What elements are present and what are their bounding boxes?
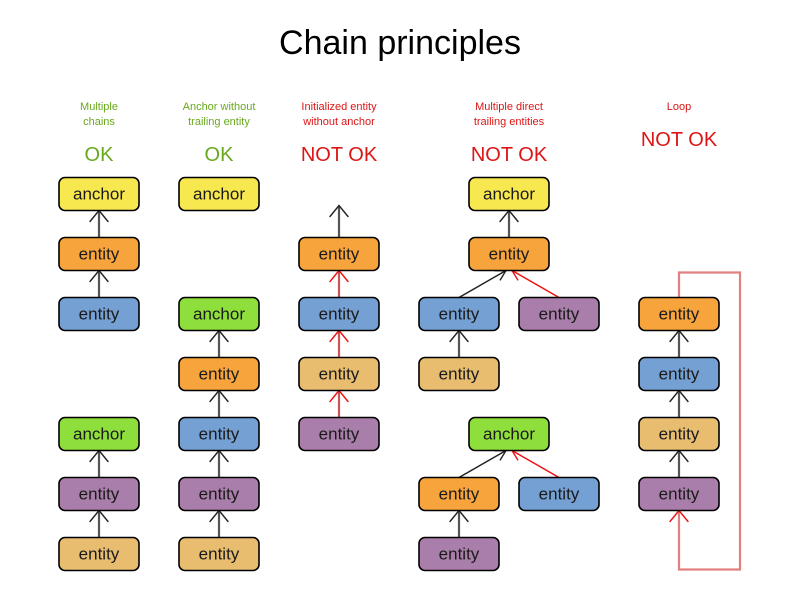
node-entity-c4n7[interactable]: entity xyxy=(419,478,499,511)
node-entity-c3n3[interactable]: entity xyxy=(299,358,379,391)
node-label: entity xyxy=(319,364,360,383)
node-label: entity xyxy=(319,244,360,263)
node-layer: anchorentityentityanchorentityentityanch… xyxy=(59,178,719,571)
node-anchor-c1n4[interactable]: anchor xyxy=(59,418,139,451)
node-entity-c1n2[interactable]: entity xyxy=(59,238,139,271)
node-entity-c2n4[interactable]: entity xyxy=(179,418,259,451)
edge-c2n5-to-c2n4 xyxy=(210,451,228,478)
edge-c1n6-to-c1n5 xyxy=(90,511,108,538)
edge-c3n2-to-c3n1 xyxy=(330,271,348,298)
node-label: anchor xyxy=(483,424,535,443)
node-label: entity xyxy=(79,544,120,563)
edge-c1n5-to-c1n4 xyxy=(90,451,108,478)
node-entity-c5n2[interactable]: entity xyxy=(639,358,719,391)
node-anchor-c2n1[interactable]: anchor xyxy=(179,178,259,211)
node-label: anchor xyxy=(483,184,535,203)
node-label: entity xyxy=(199,544,240,563)
node-label: anchor xyxy=(193,184,245,203)
node-label: anchor xyxy=(193,304,245,323)
node-entity-c3n4[interactable]: entity xyxy=(299,418,379,451)
node-label: entity xyxy=(659,364,700,383)
edge-c4n9-to-c4n7 xyxy=(450,511,468,538)
edge-c5n4-to-c5n3 xyxy=(670,451,688,478)
node-entity-c3n2[interactable]: entity xyxy=(299,298,379,331)
edge-c1n3-to-c1n2 xyxy=(90,271,108,298)
node-label: entity xyxy=(79,244,120,263)
edge-c4n4-to-c4n2 xyxy=(512,271,559,298)
node-entity-c4n3[interactable]: entity xyxy=(419,298,499,331)
node-entity-c4n9[interactable]: entity xyxy=(419,538,499,571)
edge-c2n4-to-c2n3 xyxy=(210,391,228,418)
node-entity-c2n3[interactable]: entity xyxy=(179,358,259,391)
edge-c3n4-to-c3n3 xyxy=(330,391,348,418)
node-entity-c5n4[interactable]: entity xyxy=(639,478,719,511)
chain-graph: anchorentityentityanchorentityentityanch… xyxy=(0,0,800,600)
node-label: entity xyxy=(659,484,700,503)
node-entity-c3n1[interactable]: entity xyxy=(299,238,379,271)
edge-c5n2-to-c5n1 xyxy=(670,331,688,358)
node-entity-c1n5[interactable]: entity xyxy=(59,478,139,511)
node-entity-c4n2[interactable]: entity xyxy=(469,238,549,271)
edge-c4n8-to-c4n6 xyxy=(512,451,559,478)
node-entity-c4n4[interactable]: entity xyxy=(519,298,599,331)
node-label: entity xyxy=(439,484,480,503)
node-anchor-c1n1[interactable]: anchor xyxy=(59,178,139,211)
edge-c4n5-to-c4n3 xyxy=(450,331,468,358)
edge-c5n3-to-c5n2 xyxy=(670,391,688,418)
edge-c2n6-to-c2n5 xyxy=(210,511,228,538)
diagram-canvas: Chain principles Multiple chains OK Anch… xyxy=(0,0,800,600)
node-label: entity xyxy=(439,544,480,563)
node-label: entity xyxy=(659,304,700,323)
node-anchor-c4n6[interactable]: anchor xyxy=(469,418,549,451)
node-label: entity xyxy=(319,424,360,443)
node-entity-c1n3[interactable]: entity xyxy=(59,298,139,331)
node-label: entity xyxy=(439,364,480,383)
edge-c3n1-to-none xyxy=(330,206,348,238)
node-entity-c1n6[interactable]: entity xyxy=(59,538,139,571)
node-label: entity xyxy=(319,304,360,323)
node-label: entity xyxy=(79,484,120,503)
node-label: entity xyxy=(79,304,120,323)
node-label: anchor xyxy=(73,424,125,443)
node-label: entity xyxy=(659,424,700,443)
node-anchor-c4n1[interactable]: anchor xyxy=(469,178,549,211)
edge-c2n3-to-c2n2 xyxy=(210,331,228,358)
node-entity-c4n8[interactable]: entity xyxy=(519,478,599,511)
edge-c3n3-to-c3n2 xyxy=(330,331,348,358)
node-entity-c2n6[interactable]: entity xyxy=(179,538,259,571)
edge-c4n7-to-c4n6 xyxy=(459,451,506,478)
node-entity-c2n5[interactable]: entity xyxy=(179,478,259,511)
edge-c1n2-to-c1n1 xyxy=(90,211,108,238)
node-label: entity xyxy=(539,304,580,323)
node-label: entity xyxy=(199,364,240,383)
node-entity-c4n5[interactable]: entity xyxy=(419,358,499,391)
node-entity-c5n1[interactable]: entity xyxy=(639,298,719,331)
node-label: entity xyxy=(439,304,480,323)
node-label: entity xyxy=(199,484,240,503)
edge-c4n2-to-c4n1 xyxy=(500,211,518,238)
node-label: entity xyxy=(199,424,240,443)
node-label: entity xyxy=(539,484,580,503)
edge-c4n3-to-c4n2 xyxy=(459,271,506,298)
node-label: anchor xyxy=(73,184,125,203)
node-entity-c5n3[interactable]: entity xyxy=(639,418,719,451)
node-anchor-c2n2[interactable]: anchor xyxy=(179,298,259,331)
node-label: entity xyxy=(489,244,530,263)
